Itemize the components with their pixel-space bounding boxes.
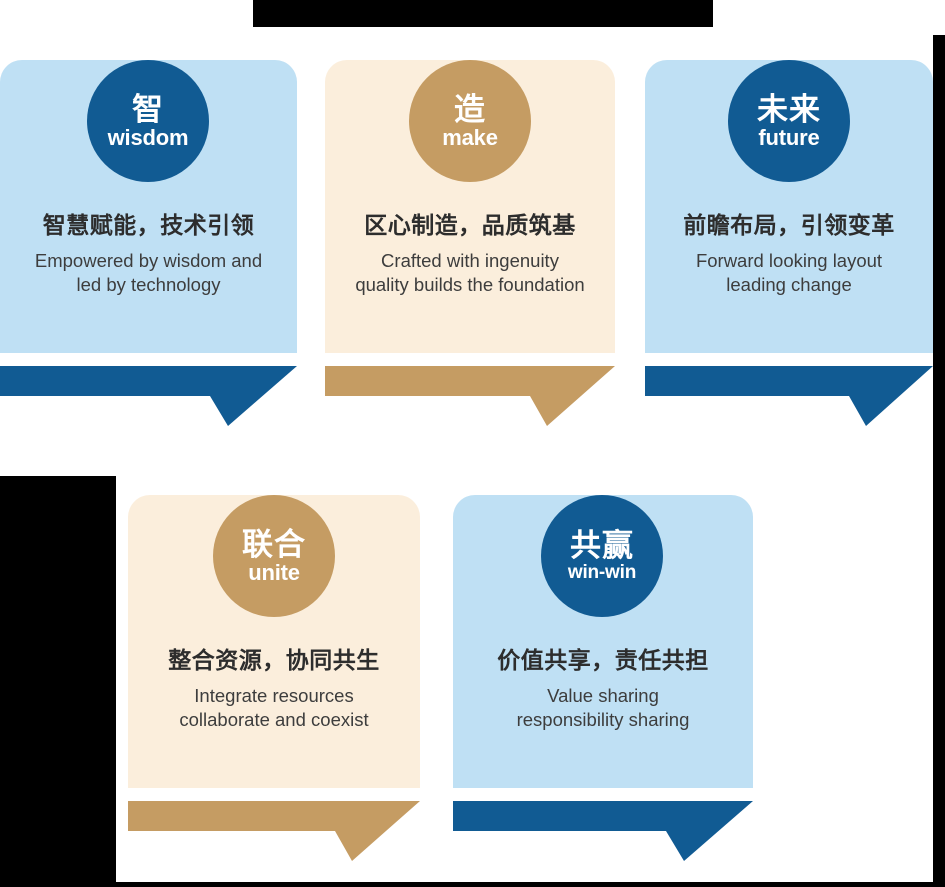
card-winwin-tail xyxy=(453,801,753,861)
card-make-badge-cn: 造 xyxy=(454,94,486,125)
card-future-text: 前瞻布局，引领变革 Forward looking layout leading… xyxy=(645,212,933,297)
card-unite-badge[interactable]: 联合 unite xyxy=(213,495,335,617)
card-make-tail xyxy=(325,366,615,426)
card-unite-tail xyxy=(128,801,420,861)
card-future-desc-line-1: Forward looking layout xyxy=(653,249,925,273)
card-winwin-badge-en: win-win xyxy=(568,563,636,582)
card-unite-desc-line-2: collaborate and coexist xyxy=(136,708,412,732)
infographic-stage: 智慧赋能，技术引领 Empowered by wisdom and led by… xyxy=(0,0,945,887)
top-right-black-notch xyxy=(933,35,945,476)
card-future-badge-cn: 未来 xyxy=(757,94,821,125)
card-unite[interactable]: 整合资源，协同共生 Integrate resources collaborat… xyxy=(128,495,420,860)
card-make-text: 区心制造，品质筑基 Crafted with ingenuity quality… xyxy=(325,212,615,297)
card-unite-badge-en: unite xyxy=(248,562,300,584)
card-unite-desc-en: Integrate resources collaborate and coex… xyxy=(136,684,412,733)
card-future-badge[interactable]: 未来 future xyxy=(728,60,850,182)
card-winwin-text: 价值共享，责任共担 Value sharing responsibility s… xyxy=(453,647,753,732)
card-winwin-desc-line-1: Value sharing xyxy=(461,684,745,708)
card-make-desc-en: Crafted with ingenuity quality builds th… xyxy=(333,249,607,298)
card-make-badge[interactable]: 造 make xyxy=(409,60,531,182)
top-black-notch xyxy=(253,0,713,27)
card-future-tail xyxy=(645,366,933,426)
card-wisdom-title-cn: 智慧赋能，技术引领 xyxy=(8,212,289,240)
card-wisdom-text: 智慧赋能，技术引领 Empowered by wisdom and led by… xyxy=(0,212,297,297)
card-make-title-cn: 区心制造，品质筑基 xyxy=(333,212,607,240)
card-unite-desc-line-1: Integrate resources xyxy=(136,684,412,708)
card-wisdom-badge-cn: 智 xyxy=(132,94,164,125)
card-make-badge-en: make xyxy=(442,127,497,149)
card-make-desc-line-1: Crafted with ingenuity xyxy=(333,249,607,273)
card-future-desc-line-2: leading change xyxy=(653,273,925,297)
card-winwin-badge-cn: 共赢 xyxy=(570,530,634,561)
card-make[interactable]: 区心制造，品质筑基 Crafted with ingenuity quality… xyxy=(325,60,615,425)
card-winwin-badge[interactable]: 共赢 win-win xyxy=(541,495,663,617)
card-wisdom-badge-en: wisdom xyxy=(108,127,189,149)
card-make-desc-line-2: quality builds the foundation xyxy=(333,273,607,297)
card-wisdom[interactable]: 智慧赋能，技术引领 Empowered by wisdom and led by… xyxy=(0,60,300,425)
card-wisdom-desc-line-1: Empowered by wisdom and xyxy=(8,249,289,273)
card-unite-badge-cn: 联合 xyxy=(242,529,306,560)
card-wisdom-badge[interactable]: 智 wisdom xyxy=(87,60,209,182)
card-future[interactable]: 前瞻布局，引领变革 Forward looking layout leading… xyxy=(645,60,933,425)
card-unite-text: 整合资源，协同共生 Integrate resources collaborat… xyxy=(128,647,420,732)
card-wisdom-tail xyxy=(0,366,297,426)
card-future-title-cn: 前瞻布局，引领变革 xyxy=(653,212,925,240)
card-unite-title-cn: 整合资源，协同共生 xyxy=(136,647,412,675)
card-future-badge-en: future xyxy=(758,127,819,149)
card-winwin[interactable]: 价值共享，责任共担 Value sharing responsibility s… xyxy=(453,495,753,860)
card-winwin-title-cn: 价值共享，责任共担 xyxy=(461,647,745,675)
card-winwin-desc-en: Value sharing responsibility sharing xyxy=(461,684,745,733)
card-winwin-desc-line-2: responsibility sharing xyxy=(461,708,745,732)
card-wisdom-desc-line-2: led by technology xyxy=(8,273,289,297)
card-wisdom-desc-en: Empowered by wisdom and led by technolog… xyxy=(8,249,289,298)
card-future-desc-en: Forward looking layout leading change xyxy=(653,249,925,298)
